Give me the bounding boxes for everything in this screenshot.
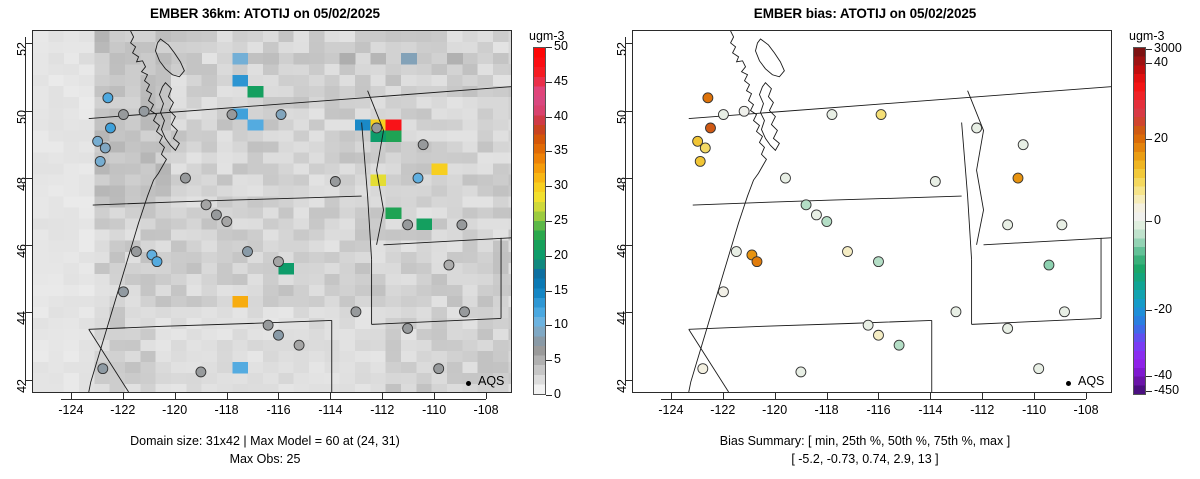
model-grid-cell [202,175,218,186]
model-grid-cell [478,31,494,42]
model-grid-cell [171,329,187,340]
model-grid-cell [294,329,310,340]
model-grid-cell [462,274,478,285]
model-grid-cell [48,318,64,329]
model-grid-cell [202,64,218,75]
y-tick-label: 42 [15,379,29,409]
model-grid-cell [462,329,478,340]
model-grid-cell [416,351,432,362]
model-grid-cell [370,384,386,392]
model-grid-cell [33,130,49,141]
colorbar-tick-mark [546,395,552,396]
model-grid-cell [186,197,202,208]
model-grid-cell [324,141,340,152]
model-grid-cell [340,75,356,86]
model-grid-cell [156,175,172,186]
model-grid-cell [64,219,80,230]
y-axis-line [625,37,626,387]
model-grid-cell [110,219,126,230]
bias-caption-line2: [ -5.2, -0.73, 0.74, 2.9, 13 ] [600,452,1130,466]
model-grid-cell [493,351,509,362]
model-grid-cell [432,119,448,130]
model-grid-cell [33,42,49,53]
colorbar-tick-label: 3000 [1154,41,1182,55]
model-grid-cell [401,285,417,296]
puget-sound-outline [759,83,779,151]
model-grid-cell [217,53,233,64]
model-grid-cell [64,307,80,318]
model-grid-cell [278,53,294,64]
model-grid-cell [217,351,233,362]
model-grid-cell [309,384,325,392]
model-grid-cell [508,230,511,241]
model-grid-cell [48,152,64,163]
model-grid-cell [324,285,340,296]
model-grid-cell [294,175,310,186]
model-grid-cell [202,163,218,174]
model-grid-cell [79,208,95,219]
model-grid-cell [79,42,95,53]
model-grid-cell [508,252,511,263]
model-grid-cell [401,97,417,108]
model-grid-cell [340,296,356,307]
station-marker [1057,220,1067,230]
model-grid-cell [278,318,294,329]
model-grid-cell [355,175,371,186]
model-grid-cell [94,318,110,329]
station-marker [211,210,221,220]
model-grid-cell [416,285,432,296]
model-grid-cell [110,64,126,75]
model-grid-cell [493,75,509,86]
model-grid-cell [248,108,264,119]
model-grid-cell [370,351,386,362]
model-grid-cell [294,318,310,329]
model-grid-cell [171,384,187,392]
colorbar-tick-mark [546,117,552,118]
model-grid-cell [48,384,64,392]
model-grid-cell [324,31,340,42]
model-grid-cell [340,373,356,384]
model-grid-cell [309,64,325,75]
model-grid-cell [462,197,478,208]
model-grid-cell [432,152,448,163]
model-grid-cell [248,263,264,274]
model-grid-cell [432,285,448,296]
model-grid-cell [309,219,325,230]
model-grid-cell [401,208,417,219]
model-grid-cell [278,241,294,252]
model-grid-cell [324,119,340,130]
model-grid-cell [447,75,463,86]
model-grid-cell [140,152,156,163]
model-grid-cell [416,329,432,340]
model-grid-cell [263,97,279,108]
model-grid-cell-highlight [294,53,310,64]
model-grid-cell [309,42,325,53]
model-grid-cell [202,285,218,296]
model-grid-cell [386,163,402,174]
model-grid-cell [447,351,463,362]
model-grid-cell [462,97,478,108]
model-grid-cell [79,384,95,392]
model-grid-cell [294,373,310,384]
model-grid-cell [294,64,310,75]
model-grid-cell [94,75,110,86]
model-grid-cell [324,241,340,252]
model-grid-cell [416,31,432,42]
model-grid-cell [478,42,494,53]
model-grid-cell [79,252,95,263]
model-grid-cell [186,340,202,351]
model-grid-cell [217,285,233,296]
model-grid-cell [309,285,325,296]
model-grid-cells [33,31,511,392]
colorbar-tick-label: 40 [554,109,568,123]
model-grid-cell [263,230,279,241]
model-grid-cell [416,263,432,274]
model-grid-cell [156,274,172,285]
model-grid-cell [232,230,248,241]
station-marker [460,307,470,317]
model-grid-cell [33,362,49,373]
model-grid-cell [340,274,356,285]
model-grid-cell [462,362,478,373]
model-grid-cell [324,208,340,219]
model-grid-cell [432,274,448,285]
model-grid-cell [447,86,463,97]
model-grid-cell [263,219,279,230]
model-grid-cell [79,230,95,241]
model-grid-cell [370,64,386,75]
model-grid-cell [508,274,511,285]
model-grid-cell [232,175,248,186]
model-grid-cell [324,263,340,274]
model-grid-cell [294,241,310,252]
model-grid-cell [48,141,64,152]
model-grid-cell [355,97,371,108]
model-grid-cell [370,274,386,285]
model-grid-cell [386,263,402,274]
model-caption-line1: Domain size: 31x42 | Max Model = 60 at (… [0,434,530,448]
model-grid-cell [294,130,310,141]
model-grid-cell [340,130,356,141]
model-grid-cell [171,340,187,351]
model-grid-cell [340,64,356,75]
y-tick-label: 48 [615,177,629,207]
model-grid-cell [171,152,187,163]
state-border-3 [962,122,972,259]
model-grid-cell [340,119,356,130]
station-marker [894,340,904,350]
colorbar-tick-mark [546,325,552,326]
colorbar-tick-label: 50 [554,39,568,53]
colorbar-tick-label: 35 [554,143,568,157]
model-grid-cell [355,296,371,307]
model-grid-cell [416,230,432,241]
model-grid-cell [309,175,325,186]
model-grid-cell [324,329,340,340]
model-grid-cell [309,163,325,174]
model-grid-cell [217,230,233,241]
x-tick-label: -116 [256,403,300,417]
model-grid-cell [48,340,64,351]
station-marker [930,176,940,186]
model-grid-cell [48,362,64,373]
model-grid-cell [386,252,402,263]
model-grid-cell [79,86,95,97]
model-grid-cell [478,186,494,197]
model-grid-cell [447,42,463,53]
model-grid-cell [156,296,172,307]
model-grid-cell [156,241,172,252]
model-grid-cell [33,186,49,197]
model-grid-cell [110,329,126,340]
model-grid-cell [294,252,310,263]
model-grid-cell [294,230,310,241]
station-marker [827,110,837,120]
colorbar-tick-mark [546,186,552,187]
model-grid-cell [140,351,156,362]
model-grid-cell [48,274,64,285]
model-grid-cell [202,75,218,86]
model-grid-cell [447,318,463,329]
model-grid-cell [447,31,463,42]
model-grid-cell [186,263,202,274]
model-grid-cell [478,296,494,307]
bias-colorbar-gradient [1133,47,1146,395]
model-grid-cell [217,163,233,174]
model-grid-cell [401,252,417,263]
model-grid-cell [79,31,95,42]
model-grid-cell [309,108,325,119]
y-tick-label: 52 [15,42,29,72]
model-grid-cell [171,285,187,296]
model-grid-cell [462,141,478,152]
model-grid-cell [432,141,448,152]
y-tick-label: 50 [615,110,629,140]
model-grid-cell [324,108,340,119]
model-grid-cell [493,141,509,152]
model-grid-cell [508,384,511,392]
model-grid-cell [94,307,110,318]
model-colorbar-gradient [533,47,546,395]
model-grid-cell [94,219,110,230]
model-grid-cell [186,130,202,141]
model-grid-cell [217,64,233,75]
bias-panel-title: EMBER bias: ATOTIJ on 05/02/2025 [600,6,1130,21]
x-tick-label: -116 [856,403,900,417]
model-grid-cell [493,163,509,174]
model-grid-cell [309,318,325,329]
model-grid-cell [64,175,80,186]
model-grid-cell [294,274,310,285]
model-grid-cell [110,252,126,263]
model-grid-cell [33,263,49,274]
y-axis-line [25,37,26,387]
model-grid-cell [294,362,310,373]
model-grid-cell [217,340,233,351]
model-grid-cell [140,163,156,174]
model-grid-cell [432,307,448,318]
model-grid-cell [186,152,202,163]
model-grid-cell [386,351,402,362]
model-grid-cell [248,163,264,174]
model-grid-cell [478,130,494,141]
model-grid-cell [33,296,49,307]
model-grid-cell [462,108,478,119]
model-grid-cell [110,75,126,86]
model-grid-cell [432,318,448,329]
model-grid-cell [186,42,202,53]
model-grid-cell [186,329,202,340]
model-grid-cell [232,31,248,42]
station-marker [372,123,382,133]
model-grid-cell [294,108,310,119]
model-grid-cell [64,197,80,208]
model-grid-cell [156,384,172,392]
model-grid-cell [48,64,64,75]
station-marker [822,217,832,227]
model-grid-cell [217,75,233,86]
model-grid-cell [508,163,511,174]
station-marker [330,176,340,186]
bias-map-plot[interactable] [632,30,1112,393]
model-grid-cell [340,329,356,340]
model-grid-cell [125,362,141,373]
model-grid-cell [508,152,511,163]
station-marker [700,143,710,153]
model-grid-cell [386,197,402,208]
colorbar-tick-label: 25 [554,213,568,227]
model-grid-cell [278,219,294,230]
model-grid-cell [125,97,141,108]
model-grid-cell [125,86,141,97]
model-grid-cell [340,31,356,42]
model-grid-cell [294,31,310,42]
model-grid-cell [33,97,49,108]
model-grid-cell [33,252,49,263]
model-grid-cell [386,241,402,252]
model-grid-cell [156,307,172,318]
model-grid-cell-highlight [232,53,248,64]
model-grid-cell [232,64,248,75]
model-grid-cell [232,307,248,318]
x-tick-label: -112 [360,403,404,417]
model-grid-cell [263,197,279,208]
model-grid-cell [355,241,371,252]
model-grid-cell [462,340,478,351]
station-marker [718,287,728,297]
model-grid-cell [416,384,432,392]
model-grid-cell [309,141,325,152]
model-grid-cell [294,296,310,307]
model-grid-cell [447,274,463,285]
model-grid-cell [432,296,448,307]
model-grid-cell [232,285,248,296]
model-grid-cell [94,208,110,219]
model-grid-cell [140,42,156,53]
vancouver-island-outline [755,39,784,77]
colorbar-tick-label: -450 [1154,383,1179,397]
model-grid-cell [309,351,325,362]
model-grid-cell [110,141,126,152]
model-grid-cell [278,42,294,53]
model-grid-cell [278,296,294,307]
model-grid-cell [217,152,233,163]
model-grid-cell [33,285,49,296]
station-marker [863,320,873,330]
station-marker [98,364,108,374]
model-grid-cell [33,141,49,152]
colorbar-tick-mark [1146,49,1152,50]
model-grid-cell [355,362,371,373]
model-grid-cell [156,219,172,230]
model-grid-cell [324,53,340,64]
model-grid-cell [508,75,511,86]
model-grid-cell [125,208,141,219]
x-tick-label: -120 [153,403,197,417]
model-grid-cell [217,263,233,274]
model-grid-cell [294,86,310,97]
model-grid-cell [478,208,494,219]
colorbar-tick-mark [1146,221,1152,222]
model-grid-cell [263,163,279,174]
model-grid-cell [232,119,248,130]
model-grid-cell [156,318,172,329]
model-grid-cell [156,152,172,163]
model-grid-cell [416,186,432,197]
bias-station-markers [693,93,1070,377]
model-grid-cell [478,75,494,86]
model-grid-cell [416,274,432,285]
model-grid-cell [156,373,172,384]
model-grid-cell [416,53,432,64]
model-grid-cell [232,130,248,141]
model-grid-cell-highlight [370,53,386,64]
model-grid-cell [324,296,340,307]
model-grid-cell [171,263,187,274]
model-grid-cell [202,219,218,230]
model-grid-cell [355,219,371,230]
station-marker [873,330,883,340]
model-map-plot[interactable] [32,30,512,393]
model-grid-cell [64,42,80,53]
model-grid-cell [186,384,202,392]
model-grid-cell [79,373,95,384]
colorbar-tick-label: 0 [1154,213,1161,227]
model-grid-cell [125,64,141,75]
model-grid-cell [493,208,509,219]
model-grid-cell [156,362,172,373]
model-grid-cell [186,141,202,152]
model-grid-cell [33,351,49,362]
model-grid-cell [309,152,325,163]
model-grid-cell [432,208,448,219]
station-marker [222,217,232,227]
model-grid-cell [125,186,141,197]
model-grid-cell [386,97,402,108]
model-grid-cell [493,175,509,186]
colorbar-tick-label: -40 [1154,368,1172,382]
model-grid-cell [64,373,80,384]
model-grid-cell [508,340,511,351]
model-grid-cell [294,285,310,296]
model-grid-cell [340,175,356,186]
model-grid-cell [248,285,264,296]
model-grid-cell [278,285,294,296]
model-grid-cell [309,252,325,263]
